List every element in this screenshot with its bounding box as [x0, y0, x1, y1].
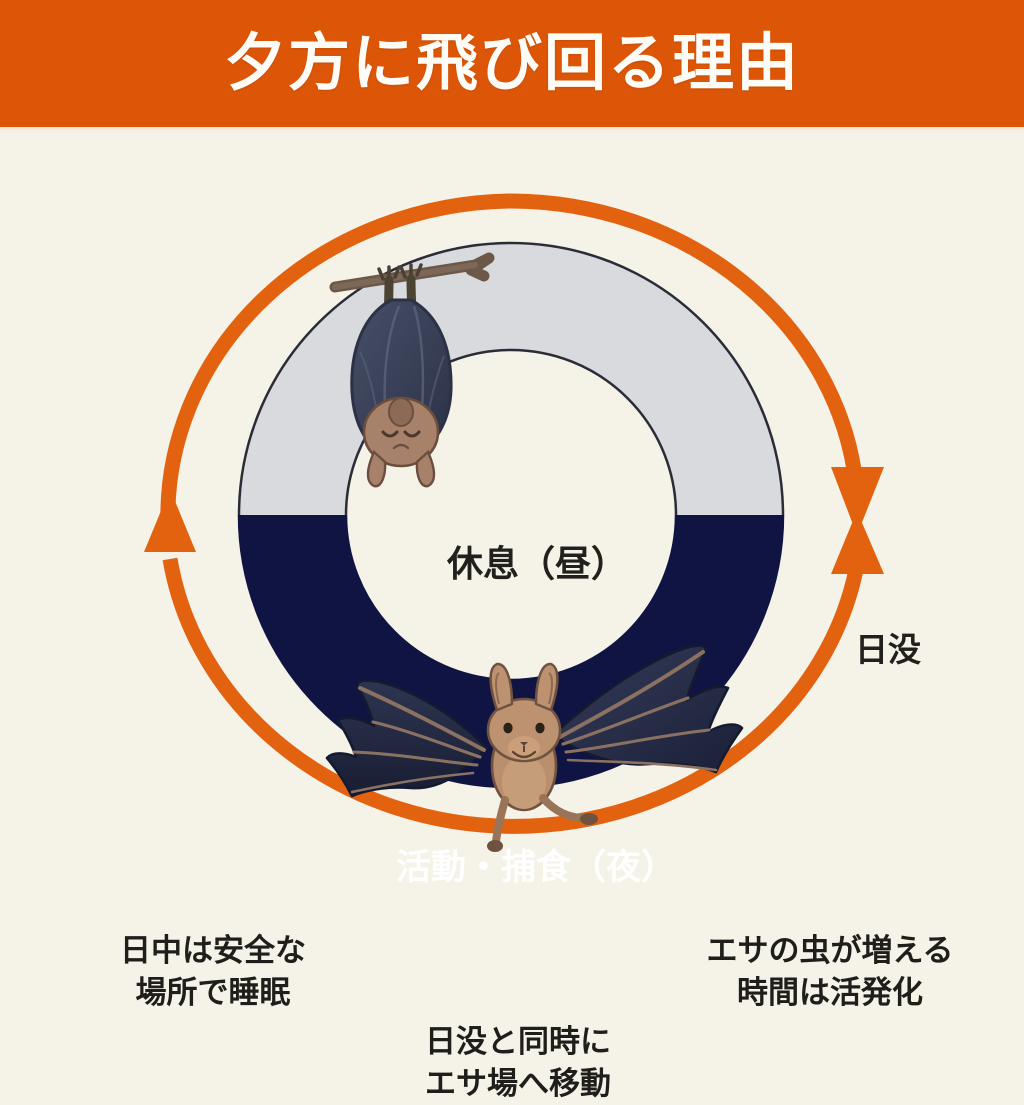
caption-bottom-line-2: エサ場へ移動	[378, 1063, 658, 1105]
day-segment-label: 休息（昼）	[447, 541, 627, 587]
header-bar: 夕方に飛び回る理由	[0, 0, 1024, 127]
caption-right: エサの虫が増える 時間は活発化	[690, 930, 970, 1014]
caption-right-line-2: 時間は活発化	[690, 972, 970, 1014]
caption-left-line-1: 日中は安全な	[78, 930, 348, 972]
caption-left: 日中は安全な 場所で睡眠	[78, 930, 348, 1014]
page-title: 夕方に飛び回る理由	[224, 33, 800, 95]
arrow-head-up-right-icon	[831, 511, 884, 574]
arrow-head-up-left-icon	[144, 489, 196, 552]
caption-bottom: 日没と同時に エサ場へ移動	[378, 1021, 658, 1105]
night-segment-label: 活動・捕食（夜）	[396, 846, 676, 891]
caption-left-line-2: 場所で睡眠	[78, 972, 348, 1014]
cycle-diagram: 休息（昼） 活動・捕食（夜） 日没 日中は安全な 場所で睡眠 エサの虫が増える …	[0, 127, 1024, 1024]
sunset-marker-label: 日没	[855, 629, 921, 671]
caption-bottom-line-1: 日没と同時に	[378, 1021, 658, 1063]
infographic-page: 夕方に飛び回る理由	[0, 0, 1024, 1024]
caption-right-line-1: エサの虫が増える	[690, 930, 970, 972]
